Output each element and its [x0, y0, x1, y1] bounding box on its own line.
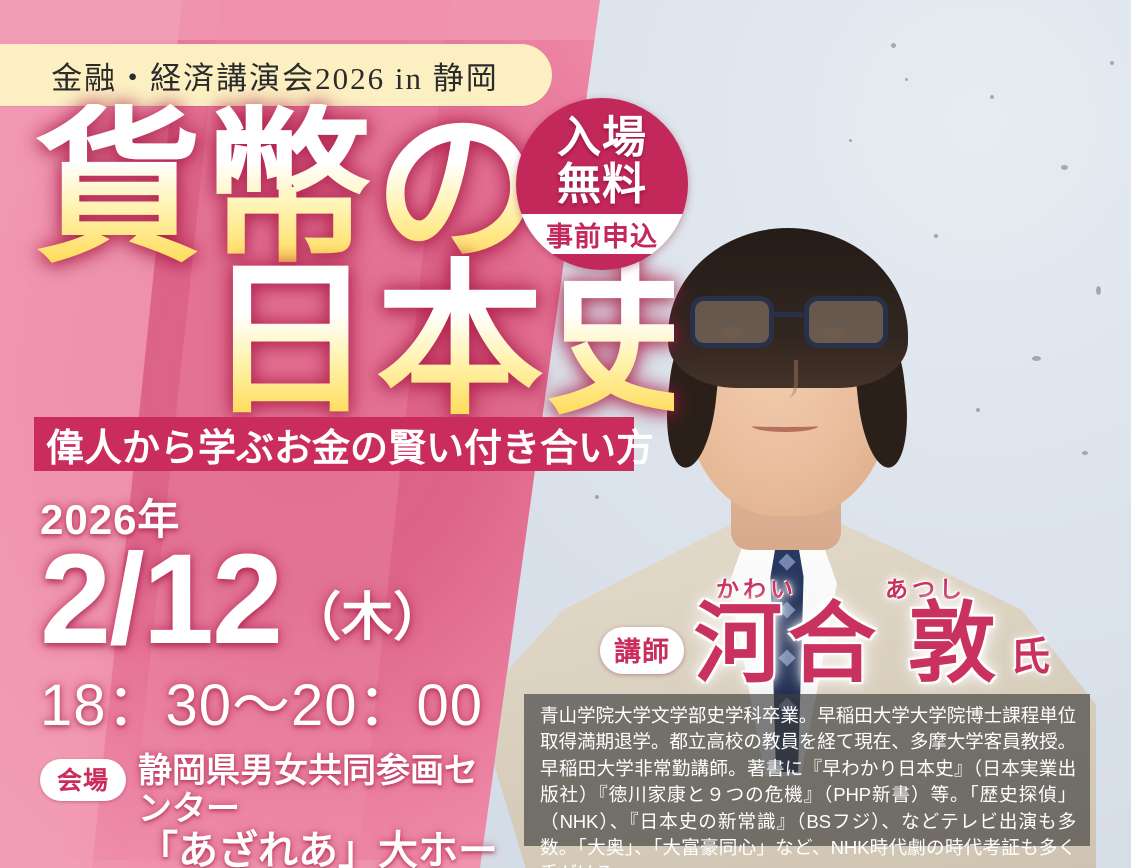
subtitle-bar: 偉人から学ぶお金の賢い付き合い方 [34, 417, 634, 471]
badge-line-2: 無料 [557, 162, 647, 209]
speaker-name-line: 河合 敦 氏 [694, 600, 1050, 688]
venue-row: 会場 静岡県男女共同参画センター 「あざれあ」大ホール [40, 752, 510, 868]
eyeglasses [690, 296, 888, 356]
free-admission-badge: 入場 無料 事前申込 [516, 98, 688, 270]
event-poster: 金融・経済講演会2026 in 静岡 貨幣の 日本史 入場 無料 事前申込 偉人… [0, 0, 1131, 868]
venue-line-2: 「あざれあ」大ホール [138, 829, 510, 868]
glasses-lens-right [804, 296, 888, 348]
badge-band: 事前申込 [516, 214, 688, 254]
speaker-family-name: 河合 [694, 600, 882, 688]
venue-line-1: 静岡県男女共同参画センター [138, 752, 510, 828]
badge-main-text: 入場 無料 [516, 106, 688, 218]
venue-label: 会場 [40, 759, 126, 801]
speaker-given-name: 敦 [908, 600, 1002, 688]
speaker-bio-box: 青山学院大学文学部史学科卒業。早稲田大学大学院博士課程単位取得満期退学。都立高校… [524, 694, 1090, 846]
speaker-role-label: 講師 [600, 627, 684, 674]
badge-line-1: 入場 [557, 115, 647, 162]
event-time: 18：30〜20：00 [40, 658, 510, 742]
subtitle-text: 偉人から学ぶお金の賢い付き合い方 [46, 417, 654, 472]
mouth [752, 420, 818, 432]
header-banner-text: 金融・経済講演会2026 in 静岡 [23, 53, 499, 98]
speaker-bio-text: 青山学院大学文学部史学科卒業。早稲田大学大学院博士課程単位取得満期退学。都立高校… [540, 703, 1076, 868]
nose [772, 360, 798, 398]
speaker-name-block: 講師 かわい あつし 河合 敦 氏 [600, 570, 1050, 688]
speaker-honorific: 氏 [1010, 624, 1050, 682]
event-info: 2026年 2/12 （木） 18：30〜20：00 会場 静岡県男女共同参画セ… [40, 486, 510, 868]
glasses-bridge [774, 312, 804, 317]
speaker-name-wrap: かわい あつし 河合 敦 氏 [694, 570, 1050, 688]
event-date-block: 2/12 （木） [40, 539, 510, 662]
title-line-2: 日本史 [206, 256, 674, 424]
badge-band-text: 事前申込 [546, 215, 658, 254]
event-day-of-week: （木） [289, 575, 445, 650]
event-date: 2/12 [40, 539, 281, 662]
venue-value: 静岡県男女共同参画センター 「あざれあ」大ホール [138, 752, 510, 868]
